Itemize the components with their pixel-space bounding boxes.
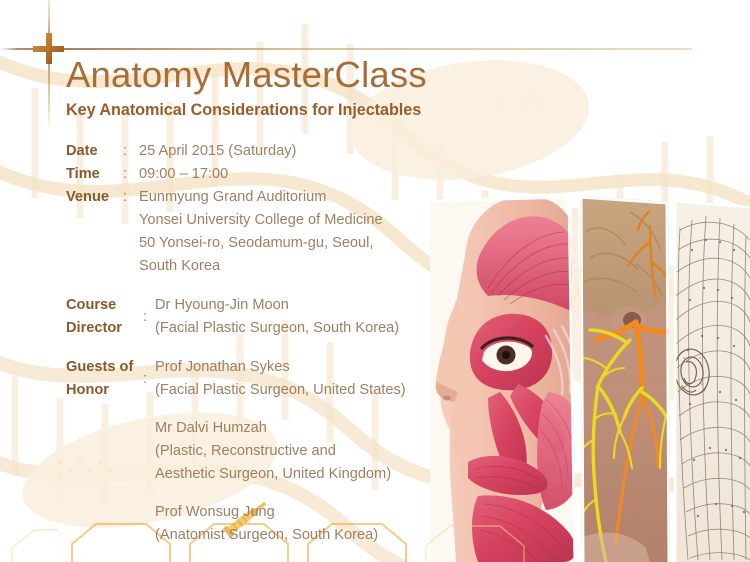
facial-nerves-panel <box>578 190 674 562</box>
detail-separator: : <box>143 356 155 402</box>
detail-row-time: Time : 09:00 – 17:00 <box>66 163 486 186</box>
guest-entry-humzah: Mr Dalvi Humzah (Plastic, Reconstructive… <box>155 417 486 486</box>
page-title: Anatomy MasterClass <box>66 56 486 95</box>
guests-of-honor-value: Prof Jonathan Sykes (Facial Plastic Surg… <box>155 356 486 402</box>
detail-value-date: 25 April 2015 (Saturday) <box>139 140 486 163</box>
event-details: Date : 25 April 2015 (Saturday) Time : 0… <box>66 140 486 547</box>
guests-of-honor-group: Guests of Honor : Prof Jonathan Sykes (F… <box>66 356 486 402</box>
plus-mark-icon <box>33 33 64 64</box>
detail-value-time: 09:00 – 17:00 <box>139 163 486 186</box>
detail-separator: : <box>123 186 139 209</box>
head-wireframe-panel <box>672 190 750 562</box>
detail-separator: : <box>143 294 155 340</box>
course-director-group: Course Director : Dr Hyoung-Jin Moon (Fa… <box>66 294 486 340</box>
course-director-label: Course Director <box>66 294 143 340</box>
guest-entry-jung: Prof Wonsug Jung (Anatomist Surgeon, Sou… <box>155 501 486 547</box>
page-subtitle: Key Anatomical Considerations for Inject… <box>66 101 486 120</box>
detail-label-date: Date <box>66 140 123 163</box>
guests-of-honor-label: Guests of Honor <box>66 356 143 402</box>
course-director-value: Dr Hyoung-Jin Moon (Facial Plastic Surge… <box>155 294 486 340</box>
detail-row-date: Date : 25 April 2015 (Saturday) <box>66 140 486 163</box>
poster-canvas: Anatomy MasterClass Key Anatomical Consi… <box>0 0 750 562</box>
poster-content: Anatomy MasterClass Key Anatomical Consi… <box>66 56 486 547</box>
detail-label-time: Time <box>66 163 123 186</box>
detail-separator: : <box>123 163 139 186</box>
detail-row-venue: Venue : Eunmyung Grand Auditorium Yonsei… <box>66 186 486 278</box>
detail-separator: : <box>123 140 139 163</box>
detail-label-venue: Venue <box>66 186 123 209</box>
detail-value-venue: Eunmyung Grand Auditorium Yonsei Univers… <box>139 186 486 278</box>
